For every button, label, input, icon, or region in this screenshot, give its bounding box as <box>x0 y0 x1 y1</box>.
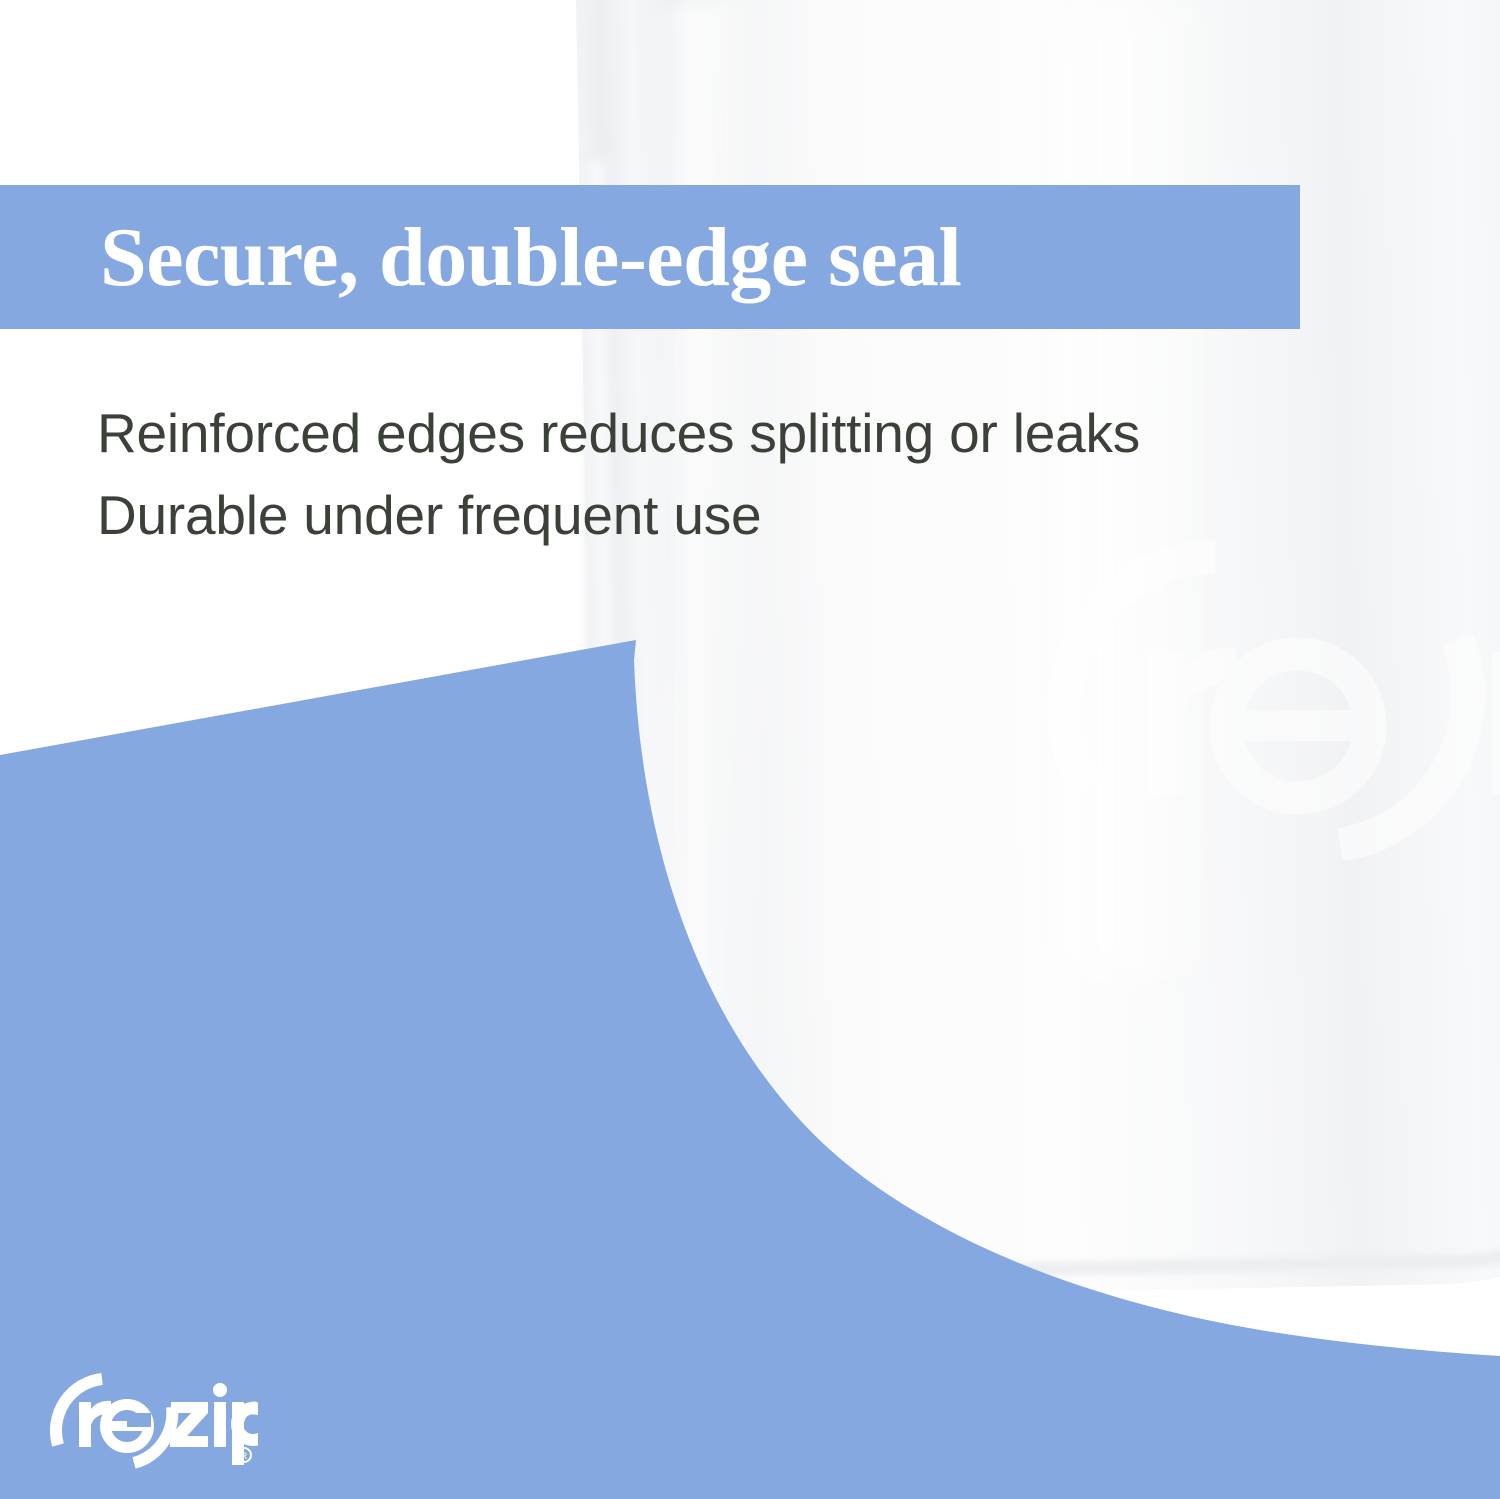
rezip-logo-letter-e <box>106 1405 152 1448</box>
feature-description: Reinforced edges reduces splitting or le… <box>97 392 1247 556</box>
rezip-logo-letter-i <box>213 1383 227 1447</box>
rezip-logo: R <box>48 1373 258 1473</box>
page-title: Secure, double-edge seal <box>100 186 1300 328</box>
product-feature-card: Secure, double-edge seal Reinforced edge… <box>0 0 1500 1499</box>
feature-bullet-2: Durable under frequent use <box>97 474 1247 556</box>
svg-text:R: R <box>241 1451 248 1461</box>
feature-bullet-1: Reinforced edges reduces splitting or le… <box>97 392 1247 474</box>
